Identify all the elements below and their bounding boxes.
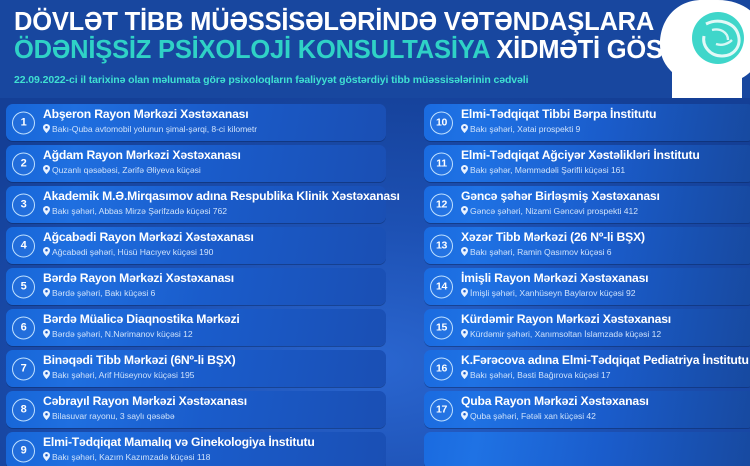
facility-row[interactable]: 4Ağcabədi Rayon Mərkəzi XəstəxanasıAğcab… (6, 227, 386, 264)
facility-title: Kürdəmir Rayon Mərkəzi Xəstəxanası (461, 312, 750, 327)
facility-address: İmişli şəhəri, Xanhüseyn Baylarov küçəsi… (461, 287, 750, 299)
location-pin-icon (43, 329, 50, 338)
facility-number-badge: 11 (430, 152, 453, 175)
facility-number-badge: 8 (12, 398, 35, 421)
facility-row[interactable]: 16K.Fərəcova adına Elmi-Tədqiqat Pediatr… (424, 350, 750, 387)
location-pin-icon (461, 288, 468, 297)
facility-address: Bakı şəhəri, Xətai prospekti 9 (461, 123, 750, 135)
facility-list-right: 10Elmi-Tədqiqat Tibbi Bərpa İnstitutuBak… (424, 104, 750, 466)
location-pin-icon (43, 452, 50, 461)
infographic-page: DÖVLƏT TİBB MÜƏSSİSƏLƏRİNDƏ VƏTƏNDAŞLARA… (0, 0, 750, 466)
page-title-highlight: ÖDƏNİŞSİZ PSİXOLOJİ KONSULTASİYA (14, 36, 489, 64)
facility-number-badge: 4 (12, 234, 35, 257)
facility-address: Bakı şəhər, Məmmədəli Şərifli küçəsi 161 (461, 164, 750, 176)
facility-address-text: Bakı şəhəri, Kazım Kazımzadə küçəsi 118 (52, 452, 210, 462)
facility-row[interactable]: 12Gəncə şəhər Birləşmiş XəstəxanasıGəncə… (424, 186, 750, 223)
location-pin-icon (461, 247, 468, 256)
location-pin-icon (461, 411, 468, 420)
facility-text: Elmi-Tədqiqat Ağciyər Xəstəlikləri İnsti… (461, 148, 750, 176)
facility-address-text: Quba şəhəri, Fətəli xan küçəsi 42 (470, 411, 596, 421)
facility-title: İmişli Rayon Mərkəzi Xəstəxanası (461, 271, 750, 286)
facility-row[interactable]: 10Elmi-Tədqiqat Tibbi Bərpa İnstitutuBak… (424, 104, 750, 141)
location-pin-icon (461, 370, 468, 379)
location-pin-icon (43, 165, 50, 174)
facility-number-badge: 15 (430, 316, 453, 339)
facility-title: Quba Rayon Mərkəzi Xəstəxanası (461, 394, 750, 409)
facility-text: K.Fərəcova adına Elmi-Tədqiqat Pediatriy… (461, 353, 750, 381)
location-pin-icon (43, 411, 50, 420)
facility-address: Kürdəmir şəhəri, Xanımsoltan İslamzadə k… (461, 328, 750, 340)
facility-number-badge: 2 (12, 152, 35, 175)
facility-number-badge: 1 (12, 111, 35, 134)
facility-row[interactable]: 8Cəbrayıl Rayon Mərkəzi XəstəxanasıBilas… (6, 391, 386, 428)
facility-number-badge: 16 (430, 357, 453, 380)
facility-address-text: Gəncə şəhəri, Nizami Gəncəvi prospekti 4… (470, 206, 638, 216)
facility-number-badge: 10 (430, 111, 453, 134)
facility-address-text: Bərdə şəhəri, N.Nərimanov küçəsi 12 (52, 329, 193, 339)
facility-number-badge: 13 (430, 234, 453, 257)
empty-row-filler (424, 432, 750, 466)
facility-address-text: Bakı-Quba avtomobil yolunun şimal-şərqi,… (52, 124, 257, 134)
facility-number-badge: 14 (430, 275, 453, 298)
subtitle: 22.09.2022-ci il tarixinə olan məlumata … (14, 74, 528, 86)
location-pin-icon (461, 165, 468, 174)
facility-address-text: Bakı şəhəri, Bəsti Bağırova küçəsi 17 (470, 370, 611, 380)
facility-address: Quba şəhəri, Fətəli xan küçəsi 42 (461, 410, 750, 422)
facility-title: Elmi-Tədqiqat Tibbi Bərpa İnstitutu (461, 107, 750, 122)
facility-address-text: İmişli şəhəri, Xanhüseyn Baylarov küçəsi… (470, 288, 636, 298)
facility-text: Gəncə şəhər Birləşmiş XəstəxanasıGəncə ş… (461, 189, 750, 217)
facility-title: K.Fərəcova adına Elmi-Tədqiqat Pediatriy… (461, 353, 750, 368)
facility-address-text: Bakı şəhəri, Arif Hüseynov küçəsi 195 (52, 370, 194, 380)
location-pin-icon (43, 288, 50, 297)
location-pin-icon (43, 206, 50, 215)
page-title-line2-rest: XİDMƏTİ GÖSTƏRİLİR (489, 36, 750, 64)
facility-address-text: Kürdəmir şəhəri, Xanımsoltan İslamzadə k… (470, 329, 661, 339)
location-pin-icon (43, 247, 50, 256)
facility-address-text: Bakı şəhər, Məmmədəli Şərifli küçəsi 161 (470, 165, 625, 175)
facility-row[interactable]: 2Ağdam Rayon Mərkəzi XəstəxanasıQuzanlı … (6, 145, 386, 182)
facility-address-text: Bərdə şəhəri, Bakı küçəsi 6 (52, 288, 155, 298)
facility-text: Elmi-Tədqiqat Tibbi Bərpa İnstitutuBakı … (461, 107, 750, 135)
page-title-line1: DÖVLƏT TİBB MÜƏSSİSƏLƏRİNDƏ VƏTƏNDAŞLARA (14, 8, 654, 36)
facility-row[interactable]: 13Xəzər Tibb Mərkəzi (26 Nº-li BŞX)Bakı … (424, 227, 750, 264)
header-banner: DÖVLƏT TİBB MÜƏSSİSƏLƏRİNDƏ VƏTƏNDAŞLARA… (0, 0, 750, 98)
facility-text: Xəzər Tibb Mərkəzi (26 Nº-li BŞX)Bakı şə… (461, 230, 750, 258)
facility-number-badge: 6 (12, 316, 35, 339)
facility-row[interactable]: 11Elmi-Tədqiqat Ağciyər Xəstəlikləri İns… (424, 145, 750, 182)
location-pin-icon (461, 124, 468, 133)
facility-number-badge: 17 (430, 398, 453, 421)
facility-number-badge: 5 (12, 275, 35, 298)
facility-text: Kürdəmir Rayon Mərkəzi XəstəxanasıKürdəm… (461, 312, 750, 340)
facility-number-badge: 9 (12, 439, 35, 462)
facility-address-text: Bakı şəhəri, Xətai prospekti 9 (470, 124, 580, 134)
page-title-line2: ÖDƏNİŞSİZ PSİXOLOJİ KONSULTASİYA XİDMƏTİ… (14, 36, 750, 64)
facility-address-text: Bilasuvar rayonu, 3 saylı qəsəbə (52, 411, 175, 421)
location-pin-icon (43, 124, 50, 133)
facility-list-left: 1Abşeron Rayon Mərkəzi XəstəxanasıBakı-Q… (6, 104, 386, 466)
facility-row[interactable]: 14İmişli Rayon Mərkəzi Xəstəxanasıİmişli… (424, 268, 750, 305)
facility-number-badge: 3 (12, 193, 35, 216)
facility-address-text: Ağcabədi şəhəri, Hüsü Hacıyev küçəsi 190 (52, 247, 213, 257)
facility-address-text: Bakı şəhəri, Abbas Mirzə Şərifzadə küçəs… (52, 206, 227, 216)
facility-address-text: Bakı şəhəri, Ramin Qasımov küçəsi 6 (470, 247, 612, 257)
location-pin-icon (43, 370, 50, 379)
facility-address: Bakı şəhəri, Ramin Qasımov küçəsi 6 (461, 246, 750, 258)
facility-address-text: Quzanlı qəsəbəsi, Zərifə Əliyeva küçəsi (52, 165, 201, 175)
facility-address: Gəncə şəhəri, Nizami Gəncəvi prospekti 4… (461, 205, 750, 217)
location-pin-icon (461, 206, 468, 215)
facility-row[interactable]: 7Binəqədi Tibb Mərkəzi (6Nº-li BŞX)Bakı … (6, 350, 386, 387)
facility-text: Quba Rayon Mərkəzi XəstəxanasıQuba şəhər… (461, 394, 750, 422)
facility-text: İmişli Rayon Mərkəzi Xəstəxanasıİmişli ş… (461, 271, 750, 299)
facility-title: Xəzər Tibb Mərkəzi (26 Nº-li BŞX) (461, 230, 750, 245)
facility-row[interactable]: 6Bərdə Müalicə Diaqnostika MərkəziBərdə … (6, 309, 386, 346)
facility-row[interactable]: 9Elmi-Tədqiqat Mamalıq və Ginekologiya İ… (6, 432, 386, 466)
facility-row[interactable]: 15Kürdəmir Rayon Mərkəzi XəstəxanasıKürd… (424, 309, 750, 346)
location-pin-icon (461, 329, 468, 338)
facility-row[interactable]: 1Abşeron Rayon Mərkəzi XəstəxanasıBakı-Q… (6, 104, 386, 141)
facility-number-badge: 12 (430, 193, 453, 216)
facility-address: Bakı şəhəri, Bəsti Bağırova küçəsi 17 (461, 369, 750, 381)
facility-number-badge: 7 (12, 357, 35, 380)
facility-title: Elmi-Tədqiqat Ağciyər Xəstəlikləri İnsti… (461, 148, 750, 163)
facility-row[interactable]: 5Bərdə Rayon Mərkəzi XəstəxanasıBərdə şə… (6, 268, 386, 305)
facility-title: Gəncə şəhər Birləşmiş Xəstəxanası (461, 189, 750, 204)
facility-row[interactable]: 3Akademik M.Ə.Mirqasımov adına Respublik… (6, 186, 386, 223)
facility-row[interactable]: 17Quba Rayon Mərkəzi XəstəxanasıQuba şəh… (424, 391, 750, 428)
